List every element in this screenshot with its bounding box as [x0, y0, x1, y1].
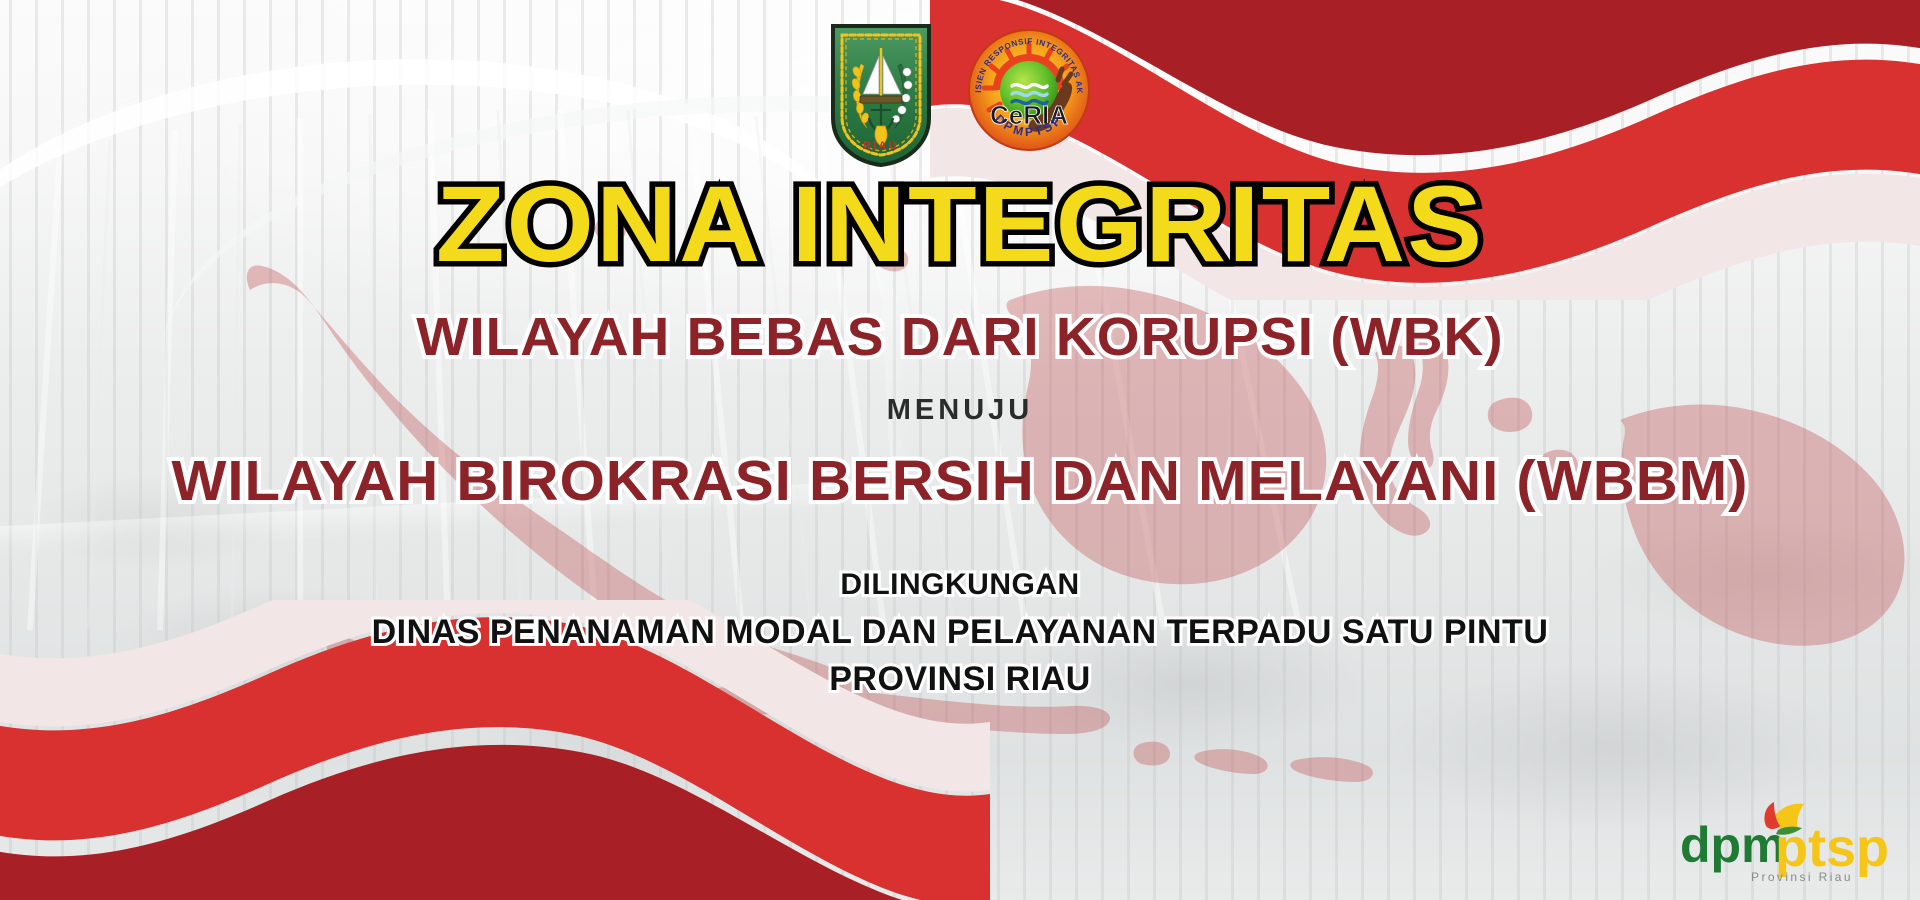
- riau-crest-icon: RIAU: [829, 22, 933, 168]
- footer-line-dinas: DINAS PENANAMAN MODAL DAN PELAYANAN TERP…: [0, 610, 1920, 656]
- dpm-text: dpm: [1680, 817, 1786, 873]
- subtitle-wbk: WILAYAH BEBAS DARI KORUPSI (WBK): [0, 310, 1920, 364]
- dpmptsp-wordmark-icon: dpm ptsp Provinsi Riau: [1662, 792, 1892, 884]
- zona-integritas-banner: RIAU: [0, 0, 1920, 900]
- ptsp-text: ptsp: [1775, 818, 1889, 878]
- page-title: ZONA INTEGRITAS: [0, 170, 1920, 278]
- footer-block: DILINGKUNGAN DINAS PENANAMAN MODAL DAN P…: [0, 566, 1920, 702]
- footer-line-provinsi: PROVINSI RIAU: [0, 657, 1920, 701]
- headline-block: ZONA INTEGRITAS WILAYAH BEBAS DARI KORUP…: [0, 170, 1920, 702]
- logo-row: RIAU: [0, 22, 1920, 168]
- dpmptsp-tagline: Provinsi Riau: [1751, 870, 1853, 884]
- ceria-seal-icon: CeRIA CEPAT EFISIEN RESPONSIF INTEGRITAS…: [967, 28, 1091, 152]
- footer-line-dilingkungan: DILINGKUNGAN: [0, 566, 1920, 604]
- subtitle-wbbm: WILAYAH BIROKRASI BERSIH DAN MELAYANI (W…: [0, 453, 1920, 510]
- riau-crest-caption: RIAU: [863, 140, 899, 152]
- connector-label: MENUJU: [0, 394, 1920, 427]
